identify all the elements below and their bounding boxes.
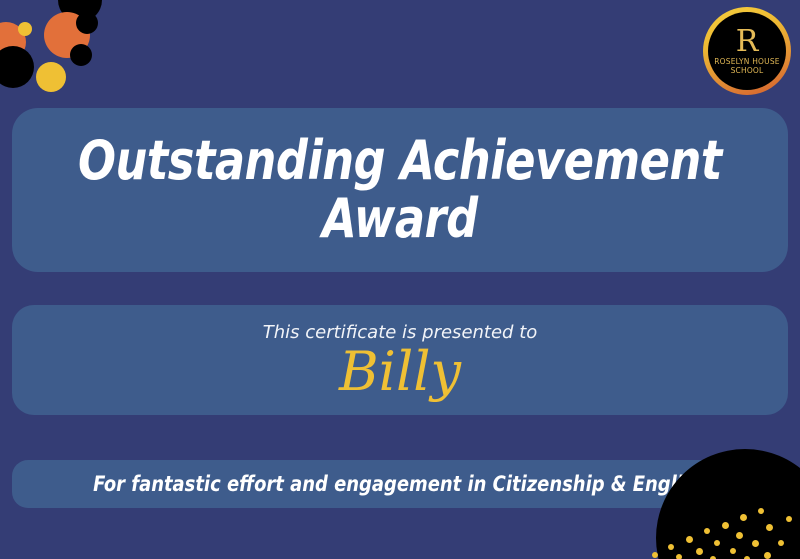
recipient-panel: This certificate is presented to Billy [12,305,788,415]
decorative-dot [740,514,747,521]
decorative-dot [766,524,773,531]
decorative-dot [786,516,792,522]
decorative-dot [722,522,729,529]
decorative-dot [730,548,736,554]
recipient-name: Billy [339,345,461,399]
logo-monogram-icon: R [736,27,759,57]
decorative-dot [752,540,759,547]
decorative-dot [696,548,703,555]
decorative-dot [686,536,693,543]
decorative-dot [714,540,720,546]
decorative-dot [668,544,674,550]
decorative-dot [704,528,710,534]
award-title-panel: Outstanding Achievement Award [12,108,788,272]
award-reason-text: For fantastic effort and engagement in C… [93,472,706,496]
school-logo: R ROSELYN HOUSE SCHOOL [703,7,791,95]
logo-school-name-line2: SCHOOL [731,67,764,76]
decorative-dot [758,508,764,514]
yellow-circle-small [18,22,32,36]
award-title: Outstanding Achievement Award [78,132,722,249]
decorative-dot [778,540,784,546]
yellow-circle-large [36,62,66,92]
decorative-dot [652,552,658,558]
school-logo-inner: R ROSELYN HOUSE SCHOOL [708,12,786,90]
black-circle-small-right [76,12,98,34]
decorative-dot [764,552,771,559]
black-circle-mid [70,44,92,66]
black-circle-large-left [0,46,34,88]
decorative-dot [676,554,682,559]
certificate-canvas: R ROSELYN HOUSE SCHOOL Outstanding Achie… [0,0,800,559]
decorative-dot [736,532,743,539]
